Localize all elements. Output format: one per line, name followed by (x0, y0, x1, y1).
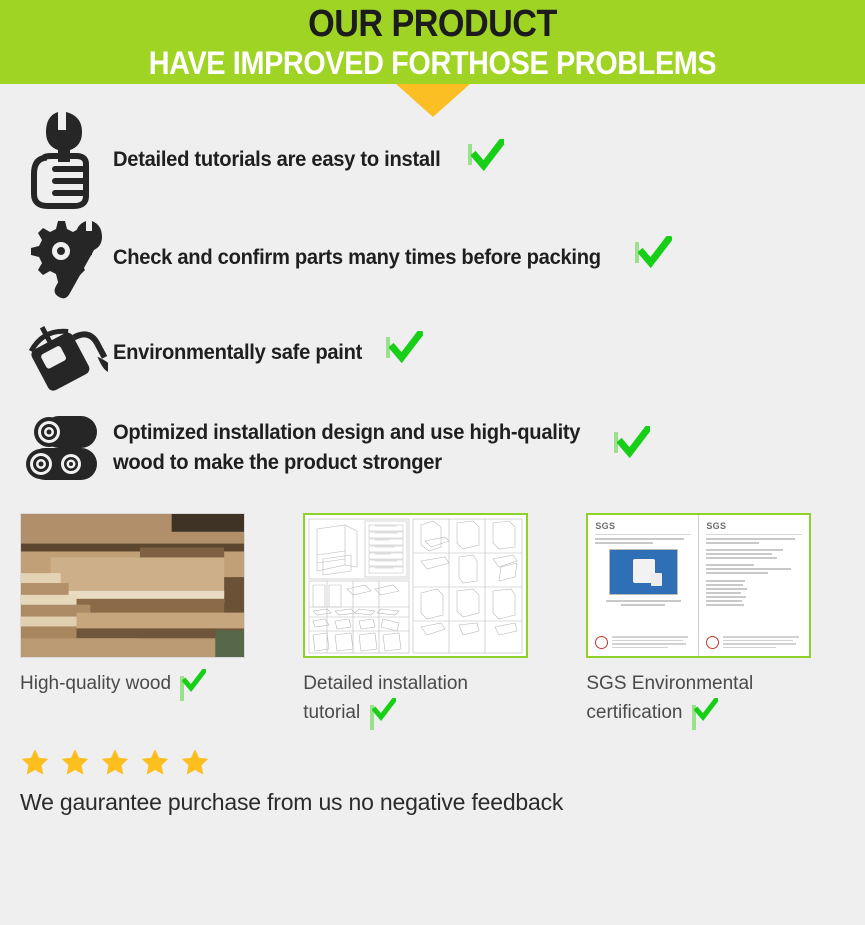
card-installation-tutorial: Detailed installation tutorial (303, 513, 586, 727)
list-item: Detailed tutorials are easy to install (18, 110, 865, 210)
green-checkbox-icon (635, 244, 663, 272)
wood-logs-icon (18, 412, 113, 484)
high-quality-wood-photo (20, 513, 245, 658)
sgs-page-1: SGS (588, 515, 698, 656)
feature-content: Detailed tutorials are easy to install (113, 145, 496, 175)
feature-content: Optimized installation design and use hi… (113, 418, 642, 478)
feature-label: Check and confirm parts many times befor… (113, 243, 601, 273)
sgs-test-report-document: SGS SGS (586, 513, 811, 658)
card-caption-line1: SGS Environmental (586, 673, 753, 694)
star-filled-icon (20, 747, 50, 777)
feature-label-line2: wood to make the product stronger (113, 451, 442, 474)
page-title: OUR PRODUCT (43, 3, 822, 45)
sgs-logo: SGS (595, 521, 691, 531)
hand-holding-wrench-icon (18, 110, 113, 210)
list-item: Check and confirm parts many times befor… (18, 210, 865, 305)
feature-content: Environmentally safe paint (113, 338, 414, 368)
feature-label-line1: Optimized installation design and use hi… (113, 421, 580, 444)
card-caption: High-quality wood (20, 669, 235, 698)
green-checkbox-icon (614, 434, 642, 462)
card-caption-line2: certification (586, 702, 682, 723)
star-rating (0, 747, 865, 777)
page-subtitle: HAVE IMPROVED FORTHOSE PROBLEMS (43, 45, 822, 81)
green-checkbox-icon (386, 339, 414, 367)
star-filled-icon (60, 747, 90, 777)
card-caption-line1: Detailed installation (303, 673, 468, 694)
sgs-logo: SGS (706, 521, 802, 531)
card-caption-text: High-quality wood (20, 673, 171, 694)
gear-wrench-icon (18, 215, 113, 301)
sgs-page-2: SGS (698, 515, 809, 656)
star-filled-icon (100, 747, 130, 777)
arrow-down-icon (396, 84, 470, 117)
seal-icon (706, 636, 719, 649)
card-sgs-certification: SGS SGS (586, 513, 865, 727)
green-checkbox-icon (370, 703, 390, 723)
installation-blueprint-diagram (303, 513, 528, 658)
green-checkbox-icon (468, 146, 496, 174)
proof-card-list: High-quality wood (0, 513, 865, 727)
list-item: Optimized installation design and use hi… (18, 400, 865, 495)
guarantee-text: We gaurantee purchase from us no negativ… (0, 789, 865, 816)
header-banner: OUR PRODUCT HAVE IMPROVED FORTHOSE PROBL… (0, 0, 865, 84)
card-high-quality-wood: High-quality wood (20, 513, 303, 727)
feature-label: Detailed tutorials are easy to install (113, 145, 440, 175)
feature-content: Check and confirm parts many times befor… (113, 243, 663, 273)
star-filled-icon (180, 747, 210, 777)
card-caption-line2: tutorial (303, 702, 360, 723)
feature-label: Optimized installation design and use hi… (113, 418, 580, 478)
paint-bucket-icon (18, 313, 113, 393)
list-item: Environmentally safe paint (18, 305, 865, 400)
star-filled-icon (140, 747, 170, 777)
feature-label: Environmentally safe paint (113, 338, 362, 368)
card-caption: SGS Environmental certification (586, 669, 801, 727)
green-checkbox-icon (692, 703, 712, 723)
seal-icon (595, 636, 608, 649)
green-checkbox-icon (180, 674, 200, 694)
card-caption: Detailed installation tutorial (303, 669, 518, 727)
feature-list: Detailed tutorials are easy to install C… (0, 110, 865, 495)
